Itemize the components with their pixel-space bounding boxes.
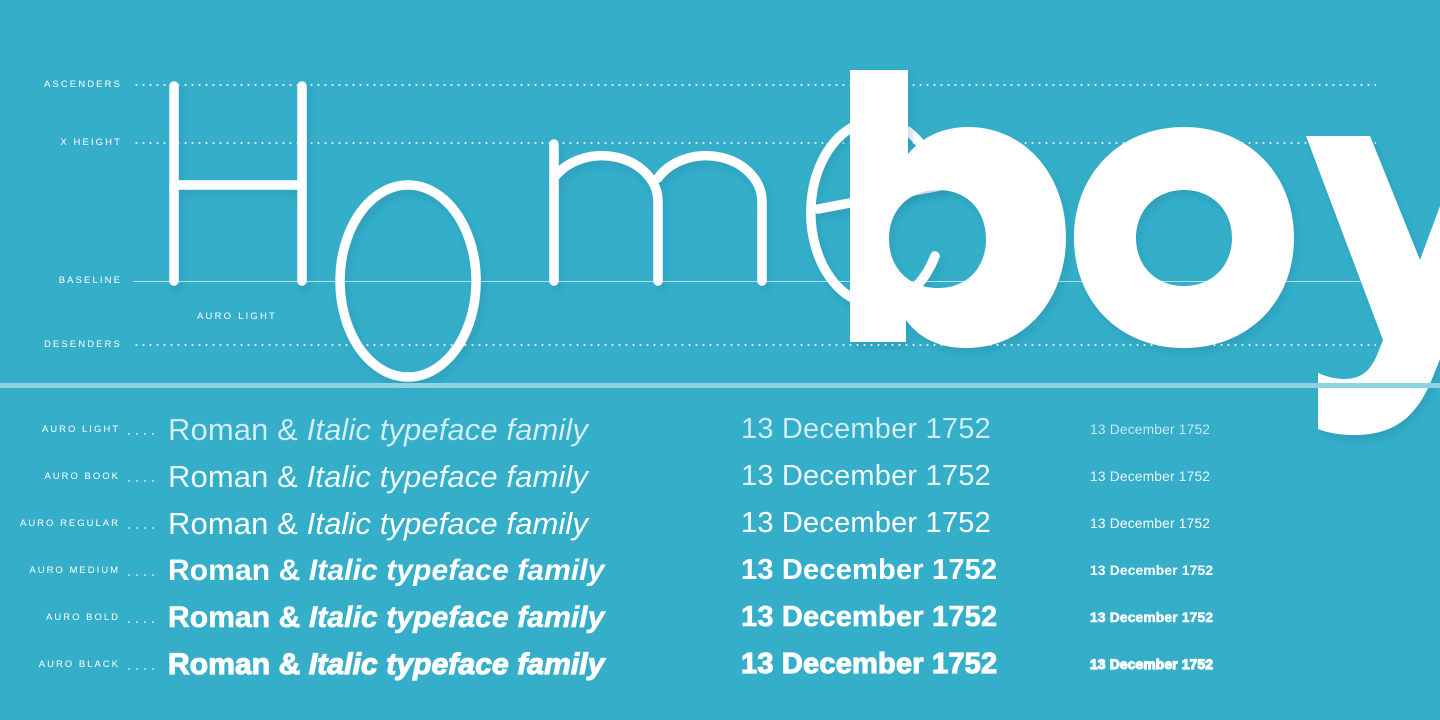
- guideline-ascenders: ASCENDERS: [0, 78, 1440, 92]
- date-lining-figures: 13 December 1752: [741, 453, 991, 500]
- guideline-label-descenders: DESENDERS: [0, 338, 122, 352]
- caption-auro-bold: AURO BOLD: [875, 311, 951, 322]
- specimen-roman: Roman: [168, 554, 270, 587]
- specimen-ampersand: &: [277, 412, 298, 447]
- table-row: AURO MEDIUM Roman & Italic typeface fami…: [0, 547, 1440, 594]
- guideline-rule-x-height: [133, 142, 1376, 144]
- date-lining-figures: 13 December 1752: [741, 641, 997, 688]
- specimen-text: Roman & Italic typeface family: [168, 453, 588, 500]
- specimen-italic: Italic typeface family: [307, 412, 588, 447]
- caption-auro-light: AURO LIGHT: [197, 311, 277, 322]
- specimen-ampersand: &: [277, 506, 298, 541]
- row-leader-dots: [128, 453, 162, 500]
- row-label-auro-black: AURO BLACK: [0, 641, 120, 688]
- table-row: AURO BOOK Roman & Italic typeface family…: [0, 453, 1440, 500]
- guideline-label-x-height: X HEIGHT: [0, 136, 122, 150]
- type-specimen-page: ASCENDERS X HEIGHT: [0, 0, 1440, 720]
- date-lining-figures: 13 December 1752: [741, 594, 997, 641]
- specimen-roman: Roman: [168, 459, 268, 494]
- date-oldstyle-figures: 13 December 1752: [1090, 406, 1210, 453]
- specimen-ampersand: &: [279, 601, 301, 634]
- row-leader-dots: [128, 500, 162, 547]
- date-lining-figures: 13 December 1752: [741, 500, 991, 547]
- date-oldstyle-figures: 13 December 1752: [1090, 500, 1210, 547]
- specimen-italic: Italic typeface family: [307, 459, 588, 494]
- guideline-label-ascenders: ASCENDERS: [0, 78, 122, 92]
- specimen-roman: Roman: [168, 648, 270, 681]
- date-oldstyle-figures: 13 December 1752: [1090, 547, 1213, 594]
- specimen-roman: Roman: [168, 506, 268, 541]
- specimen-text: Roman & Italic typeface family: [168, 406, 588, 453]
- specimen-ampersand: &: [279, 554, 301, 587]
- row-leader-dots: [128, 594, 162, 641]
- guideline-descenders: DESENDERS: [0, 338, 1440, 352]
- table-row: AURO BOLD Roman & Italic typeface family…: [0, 594, 1440, 641]
- guideline-rule-ascenders: [133, 84, 1376, 86]
- specimen-ampersand: &: [277, 459, 298, 494]
- guideline-rule-descenders: [133, 344, 1376, 346]
- date-oldstyle-figures: 13 December 1752: [1090, 641, 1213, 688]
- headline-bold-word: [850, 70, 1440, 435]
- row-label-auro-light: AURO LIGHT: [0, 406, 120, 453]
- display-specimen-panel: ASCENDERS X HEIGHT: [0, 0, 1440, 384]
- specimen-italic: Italic typeface family: [309, 648, 605, 681]
- guideline-x-height: X HEIGHT: [0, 136, 1440, 150]
- guideline-baseline: BASELINE: [0, 274, 1440, 288]
- table-row: AURO REGULAR Roman & Italic typeface fam…: [0, 500, 1440, 547]
- specimen-text: Roman & Italic typeface family: [168, 641, 605, 688]
- specimen-italic: Italic typeface family: [309, 601, 605, 634]
- row-label-auro-medium: AURO MEDIUM: [0, 547, 120, 594]
- row-leader-dots: [128, 547, 162, 594]
- row-label-auro-bold: AURO BOLD: [0, 594, 120, 641]
- specimen-roman: Roman: [168, 412, 268, 447]
- specimen-italic: Italic typeface family: [309, 554, 605, 587]
- date-oldstyle-figures: 13 December 1752: [1090, 594, 1213, 641]
- weights-table-panel: AURO LIGHT Roman & Italic typeface famil…: [0, 388, 1440, 720]
- row-label-auro-regular: AURO REGULAR: [0, 500, 120, 547]
- table-row: AURO LIGHT Roman & Italic typeface famil…: [0, 406, 1440, 453]
- guideline-label-baseline: BASELINE: [0, 274, 122, 288]
- date-lining-figures: 13 December 1752: [741, 406, 991, 453]
- table-row: AURO BLACK Roman & Italic typeface famil…: [0, 641, 1440, 688]
- headline-light-word: [174, 86, 940, 377]
- date-oldstyle-figures: 13 December 1752: [1090, 453, 1210, 500]
- row-label-auro-book: AURO BOOK: [0, 453, 120, 500]
- date-lining-figures: 13 December 1752: [741, 547, 997, 594]
- specimen-text: Roman & Italic typeface family: [168, 500, 588, 547]
- specimen-text: Roman & Italic typeface family: [168, 594, 605, 641]
- specimen-text: Roman & Italic typeface family: [168, 547, 605, 594]
- specimen-roman: Roman: [168, 601, 270, 634]
- row-leader-dots: [128, 406, 162, 453]
- specimen-italic: Italic typeface family: [307, 506, 588, 541]
- guideline-rule-baseline: [133, 281, 1376, 282]
- specimen-ampersand: &: [279, 648, 301, 681]
- row-leader-dots: [128, 641, 162, 688]
